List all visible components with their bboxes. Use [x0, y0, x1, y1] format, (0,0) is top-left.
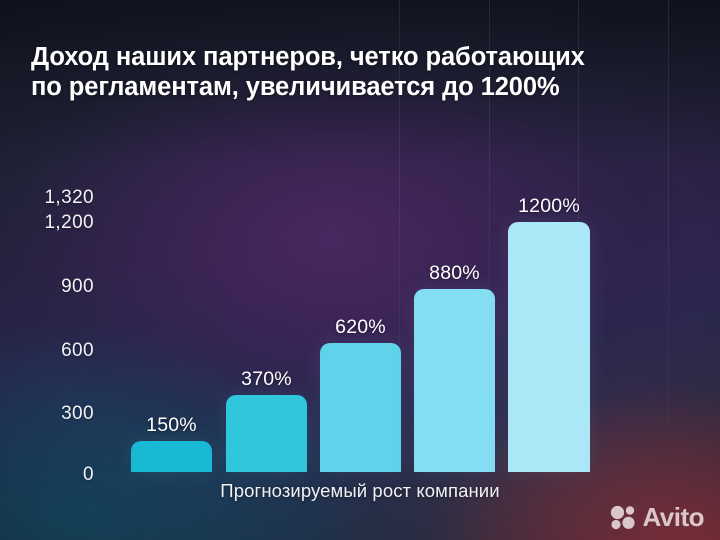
- avito-watermark: Avito: [609, 504, 704, 530]
- bar-value-label-4: 880%: [394, 263, 515, 283]
- avito-dots-icon: [609, 505, 637, 530]
- bar-4[interactable]: [414, 289, 495, 472]
- bar-value-label-3: 620%: [300, 317, 421, 337]
- bar-value-label-2: 370%: [206, 369, 327, 389]
- x-axis-caption: Прогнозируемый рост компании: [0, 480, 720, 502]
- bar-3[interactable]: [320, 343, 401, 472]
- bar-value-label-5: 1200%: [488, 196, 610, 216]
- plot-area: 150% 370% 620% 880% 1200%: [0, 0, 720, 540]
- chart-canvas: Доход наших партнеров, четко работающих …: [0, 0, 720, 540]
- bar-value-label-1: 150%: [111, 415, 232, 435]
- avito-wordmark: Avito: [642, 504, 704, 530]
- bar-5[interactable]: [508, 222, 590, 472]
- bar-1[interactable]: [131, 441, 212, 472]
- bar-2[interactable]: [226, 395, 307, 472]
